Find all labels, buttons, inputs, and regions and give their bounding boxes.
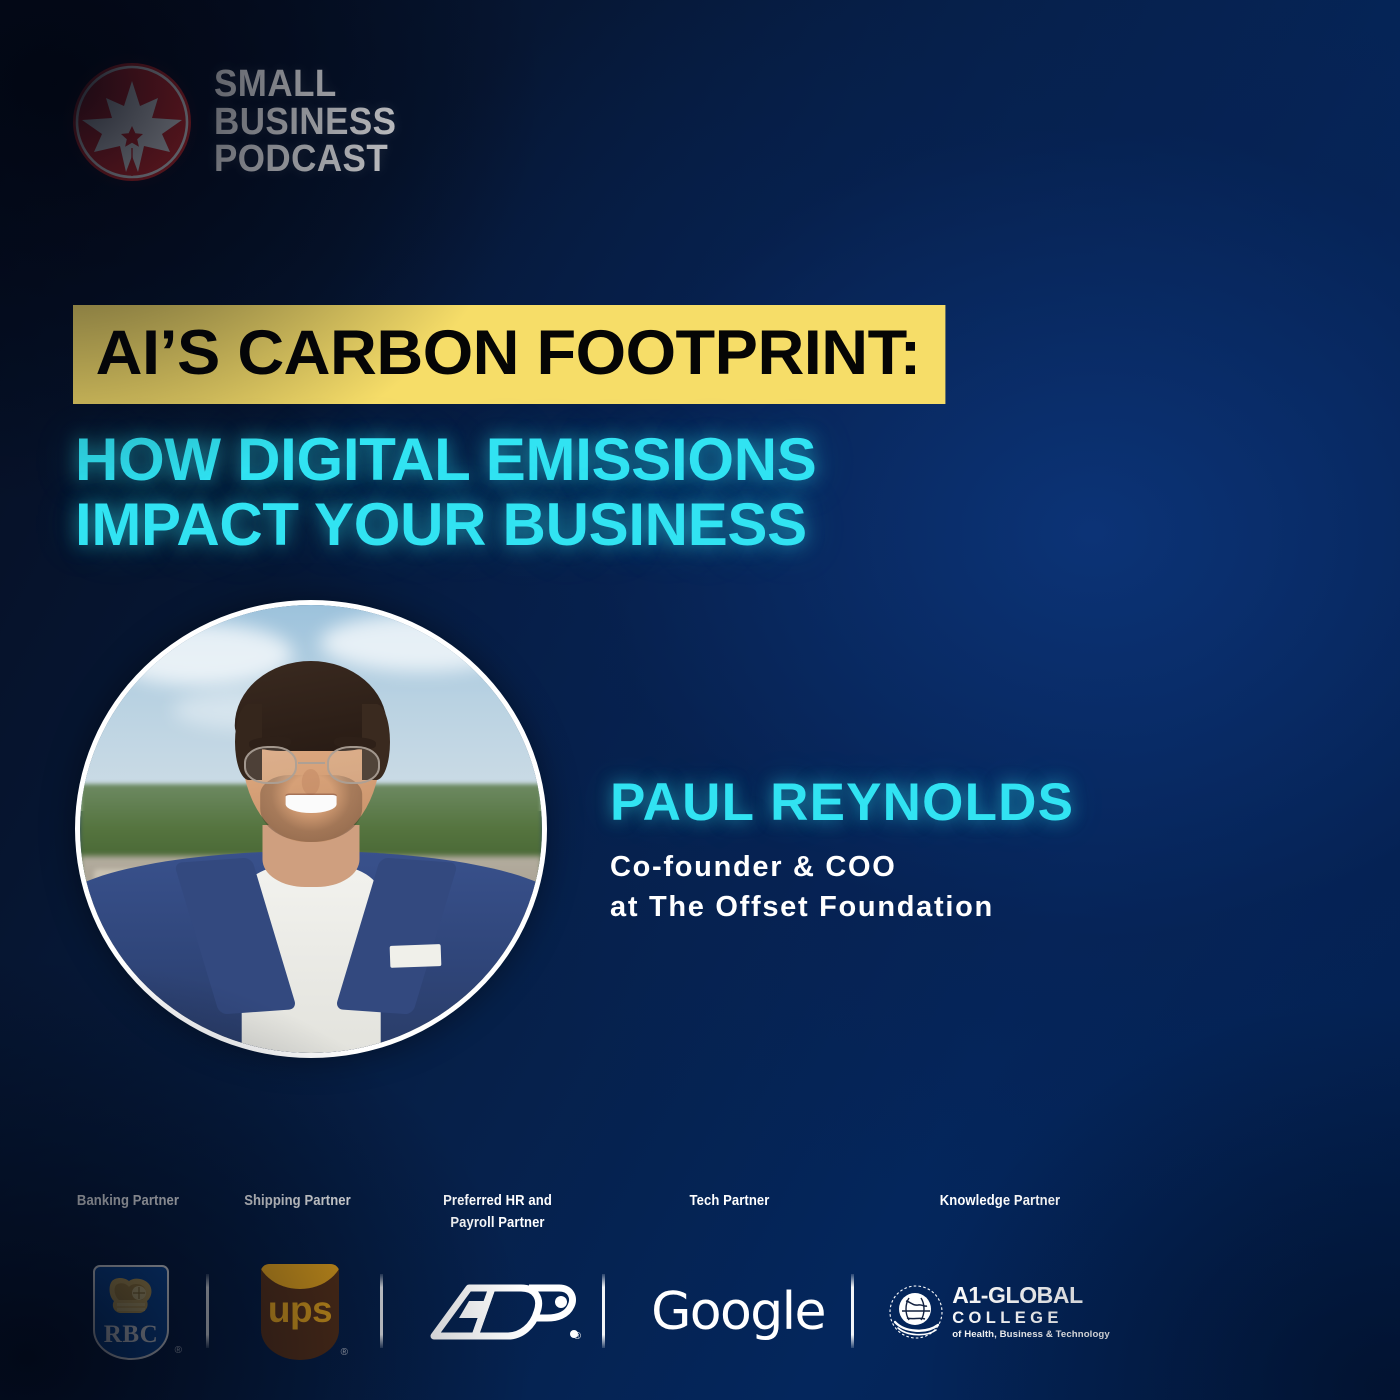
partner-logo-google[interactable]: Google — [628, 1254, 848, 1370]
partner-divider — [380, 1274, 383, 1348]
episode-title-block: AI’S CARBON FOOTPRINT: HOW DIGITAL EMISS… — [73, 305, 1193, 558]
episode-title-highlight: AI’S CARBON FOOTPRINT: — [73, 305, 945, 404]
rbc-wordmark: RBC — [95, 1321, 167, 1349]
google-wordmark: Google — [651, 1282, 825, 1342]
brand-line-3: PODCAST — [214, 141, 396, 178]
a1-global-line-2: COLLEGE — [952, 1310, 1110, 1327]
partner-label-shipping: Shipping Partner — [219, 1190, 377, 1212]
partner-logos-row: RBC ® ups ® — [0, 1254, 1400, 1374]
rbc-crest-icon — [104, 1273, 158, 1319]
partner-divider — [206, 1274, 209, 1348]
maple-leaf-circle-icon — [70, 60, 194, 184]
speaker-role-line-1: Co-founder & COO — [610, 847, 1074, 887]
podcast-cover-canvas: SMALL BUSINESS PODCAST AI’S CARBON FOOTP… — [0, 0, 1400, 1400]
partner-label-tech: Tech Partner — [651, 1190, 809, 1212]
speaker-role: Co-founder & COO at The Offset Foundatio… — [610, 847, 1074, 927]
episode-subtitle-line-2: IMPACT YOUR BUSINESS — [75, 493, 1193, 558]
globe-icon — [888, 1284, 944, 1340]
partner-label-knowledge: Knowledge Partner — [883, 1190, 1117, 1212]
speaker-info: PAUL REYNOLDS Co-founder & COO at The Of… — [610, 776, 1074, 927]
speaker-name: PAUL REYNOLDS — [610, 776, 1074, 829]
partner-logo-rbc[interactable]: RBC ® — [76, 1254, 186, 1370]
registered-mark: ® — [574, 1331, 581, 1342]
brand-wordmark: SMALL BUSINESS PODCAST — [214, 66, 396, 179]
partner-logo-ups[interactable]: ups ® — [240, 1254, 360, 1370]
a1-global-tagline: of Health, Business & Technology — [952, 1330, 1110, 1340]
partner-divider — [602, 1274, 605, 1348]
adp-mark-icon — [429, 1278, 579, 1346]
speaker-role-line-2: at The Offset Foundation — [610, 887, 1074, 927]
episode-subtitle-line-1: HOW DIGITAL EMISSIONS — [75, 428, 1193, 493]
partner-divider — [851, 1274, 854, 1348]
partner-label-hr-payroll: Preferred HR and Payroll Partner — [414, 1190, 581, 1235]
podcast-brand-lockup: SMALL BUSINESS PODCAST — [70, 60, 412, 184]
registered-mark: ® — [175, 1345, 182, 1356]
brand-line-2: BUSINESS — [214, 104, 396, 141]
partner-logo-adp[interactable]: ® — [414, 1254, 594, 1370]
episode-subtitle: HOW DIGITAL EMISSIONS IMPACT YOUR BUSINE… — [73, 428, 1193, 558]
registered-mark: ® — [341, 1347, 348, 1358]
brand-line-1: SMALL — [214, 66, 396, 103]
speaker-portrait — [75, 600, 547, 1058]
ups-wordmark: ups — [261, 1291, 339, 1328]
partners-section: Banking Partner Shipping Partner Preferr… — [0, 1190, 1400, 1374]
partner-logo-a1-global-college[interactable]: A1-GLOBAL COLLEGE of Health, Business & … — [884, 1254, 1114, 1370]
partner-labels-row: Banking Partner Shipping Partner Preferr… — [0, 1190, 1400, 1248]
partner-label-banking: Banking Partner — [52, 1190, 205, 1212]
a1-global-line-1: A1-GLOBAL — [952, 1284, 1110, 1307]
